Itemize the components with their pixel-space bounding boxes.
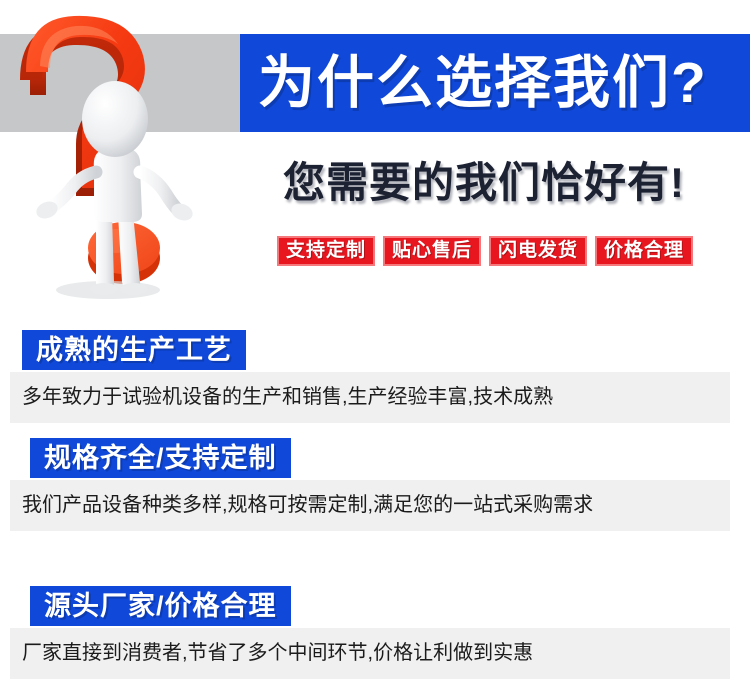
feature-desc-craft: 多年致力于试验机设备的生产和销售,生产经验丰富,技术成熟 (10, 372, 730, 423)
page-subtitle: 您需要的我们恰好有! (283, 154, 733, 212)
question-mark-dot-icon (88, 222, 160, 284)
feature-tag-craft: 成熟的生产工艺 (22, 330, 246, 370)
feature-desc-specs: 我们产品设备种类多样,规格可按需定制,满足您的一站式采购需求 (10, 480, 730, 531)
feature-tag-specs: 规格齐全/支持定制 (30, 438, 291, 478)
feature-badge-row: 支持定制 贴心售后 闪电发货 价格合理 (277, 236, 693, 266)
feature-desc-factory: 厂家直接到消费者,节省了多个中间环节,价格让利做到实惠 (10, 628, 730, 679)
badge-after-sales[interactable]: 贴心售后 (383, 236, 481, 266)
badge-fast-shipping[interactable]: 闪电发货 (489, 236, 587, 266)
feature-tag-factory: 源头厂家/价格合理 (30, 586, 291, 626)
hero-section: 为什么选择我们? 您需要的我们恰好有! (0, 0, 750, 300)
badge-fair-price[interactable]: 价格合理 (595, 236, 693, 266)
badge-custom-support[interactable]: 支持定制 (277, 236, 375, 266)
page-title: 为什么选择我们? (258, 44, 738, 122)
promo-poster: 为什么选择我们? 您需要的我们恰好有! (0, 0, 750, 697)
grey-accent-band (0, 34, 243, 132)
